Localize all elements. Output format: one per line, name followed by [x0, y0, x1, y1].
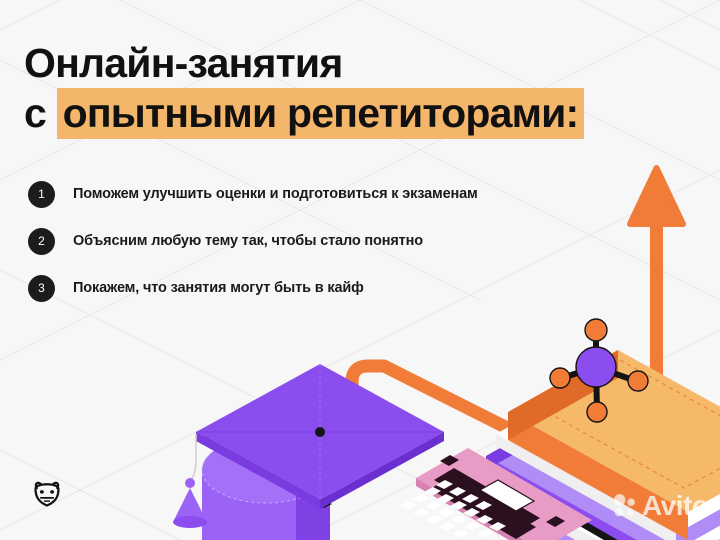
list-item: 3 Покажем, что занятия могут быть в кайф [28, 274, 628, 302]
page-title-line2: с опытными репетиторами: [24, 88, 684, 138]
avito-dots-icon [612, 493, 638, 519]
avito-watermark-label: Avito [642, 492, 708, 520]
poster-canvas: Онлайн-занятия с опытными репетиторами: … [0, 0, 720, 540]
list-item-number-badge: 3 [28, 275, 55, 302]
list-item-number-badge: 2 [28, 228, 55, 255]
list-item-label: Поможем улучшить оценки и подготовиться … [73, 186, 478, 202]
list-item-label: Объясним любую тему так, чтобы стало пон… [73, 233, 423, 249]
page-title: Онлайн-занятия с опытными репетиторами: [24, 38, 684, 138]
page-title-line2-prefix: с [24, 90, 57, 136]
page-title-line1: Онлайн-занятия [24, 38, 684, 88]
text-content-layer: Онлайн-занятия с опытными репетиторами: … [0, 0, 720, 540]
avito-watermark: Avito [612, 489, 708, 523]
list-item: 1 Поможем улучшить оценки и подготовитьс… [28, 180, 628, 208]
bear-head-logo-icon [30, 477, 64, 511]
benefit-list: 1 Поможем улучшить оценки и подготовитьс… [28, 180, 628, 321]
list-item: 2 Объясним любую тему так, чтобы стало п… [28, 227, 628, 255]
list-item-label: Покажем, что занятия могут быть в кайф [73, 280, 364, 296]
page-title-highlight: опытными репетиторами: [57, 88, 585, 139]
list-item-number-badge: 1 [28, 181, 55, 208]
